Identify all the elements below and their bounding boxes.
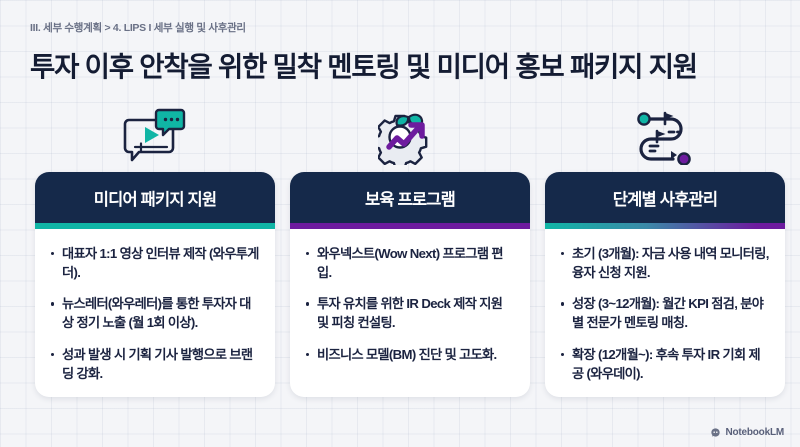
- cards-container: 미디어 패키지 지원 대표자 1:1 영상 인터뷰 제작 (와우투게더). 뉴스…: [35, 172, 785, 397]
- card-title: 보육 프로그램: [290, 172, 530, 223]
- card-icons-row: [35, 104, 785, 168]
- list-item: 투자 유치를 위한 IR Deck 제작 지원 및 피칭 컨설팅.: [304, 295, 516, 332]
- card-title: 단계별 사후관리: [545, 172, 785, 223]
- icon-slot-media: [35, 104, 275, 168]
- list-item: 초기 (3개월): 자금 사용 내역 모니터링, 융자 신청 지원.: [559, 245, 771, 282]
- gear-growth-icon: [378, 107, 442, 165]
- bullet-list: 대표자 1:1 영상 인터뷰 제작 (와우투게더). 뉴스레터(와우레터)를 통…: [49, 245, 261, 383]
- roadmap-milestone-icon: [633, 107, 697, 165]
- footer-brand: NotebookLM: [710, 427, 784, 438]
- breadcrumb: III. 세부 수행계획 > 4. LIPS I 세부 실행 및 사후관리: [30, 20, 770, 35]
- list-item: 성장 (3~12개월): 월간 KPI 점검, 분야별 전문가 멘토링 매칭.: [559, 295, 771, 332]
- card-media-package: 미디어 패키지 지원 대표자 1:1 영상 인터뷰 제작 (와우투게더). 뉴스…: [35, 172, 275, 397]
- icon-slot-incubation: [290, 104, 530, 168]
- card-incubation-program: 보육 프로그램 와우넥스트(Wow Next) 프로그램 편입. 투자 유치를 …: [290, 172, 530, 397]
- list-item: 성과 발생 시 기획 기사 발행으로 브랜딩 강화.: [49, 346, 261, 383]
- card-body: 대표자 1:1 영상 인터뷰 제작 (와우투게더). 뉴스레터(와우레터)를 통…: [35, 229, 275, 397]
- notebooklm-logo-icon: [710, 427, 721, 438]
- page-title: 투자 이후 안착을 위한 밀착 멘토링 및 미디어 홍보 패키지 지원: [30, 44, 770, 84]
- list-item: 확장 (12개월~): 후속 투자 IR 기회 제공 (와우데이).: [559, 346, 771, 383]
- list-item: 와우넥스트(Wow Next) 프로그램 편입.: [304, 245, 516, 282]
- slide-header: III. 세부 수행계획 > 4. LIPS I 세부 실행 및 사후관리 투자…: [0, 0, 800, 84]
- video-message-icon: [123, 107, 187, 165]
- list-item: 대표자 1:1 영상 인터뷰 제작 (와우투게더).: [49, 245, 261, 282]
- list-item: 비즈니스 모델(BM) 진단 및 고도화.: [304, 346, 516, 365]
- card-body: 초기 (3개월): 자금 사용 내역 모니터링, 융자 신청 지원. 성장 (3…: [545, 229, 785, 397]
- card-stagewise-followup: 단계별 사후관리 초기 (3개월): 자금 사용 내역 모니터링, 융자 신청 …: [545, 172, 785, 397]
- card-title: 미디어 패키지 지원: [35, 172, 275, 223]
- footer-brand-label: NotebookLM: [725, 427, 784, 438]
- list-item: 뉴스레터(와우레터)를 통한 투자자 대상 정기 노출 (월 1회 이상).: [49, 295, 261, 332]
- icon-slot-followup: [545, 104, 785, 168]
- bullet-list: 초기 (3개월): 자금 사용 내역 모니터링, 융자 신청 지원. 성장 (3…: [559, 245, 771, 383]
- bullet-list: 와우넥스트(Wow Next) 프로그램 편입. 투자 유치를 위한 IR De…: [304, 245, 516, 365]
- card-body: 와우넥스트(Wow Next) 프로그램 편입. 투자 유치를 위한 IR De…: [290, 229, 530, 397]
